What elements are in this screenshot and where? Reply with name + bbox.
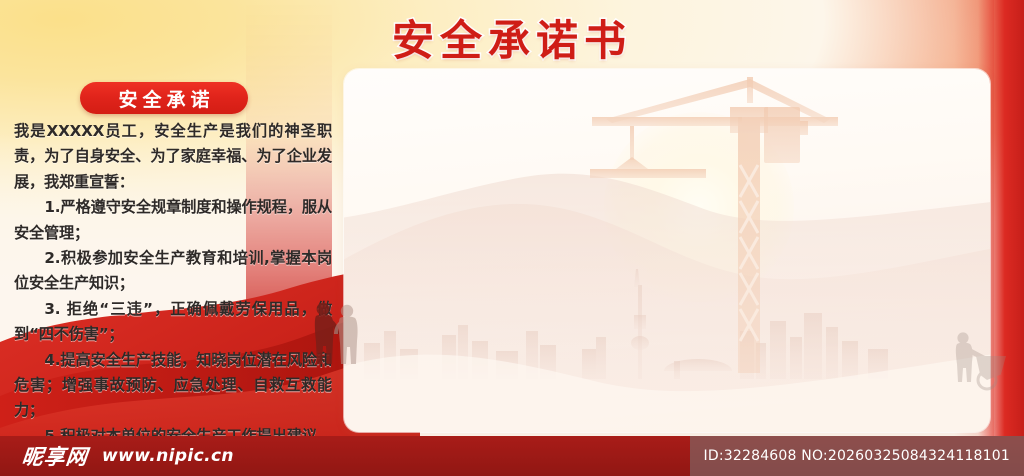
image-id-bar: ID:32284608 NO:20260325084324118101 bbox=[690, 436, 1024, 476]
pledge-item-1: 1.严格遵守安全规章制度和操作规程，服从安全管理； bbox=[14, 195, 332, 246]
status-badge: 安全承诺 bbox=[80, 82, 248, 114]
content-panel bbox=[344, 69, 990, 432]
site-logo: 昵享网 bbox=[20, 441, 89, 471]
poster-canvas: 安全承诺书 安全承诺 我是XXXXX员工，安全生产是我们的神圣职责，为了自身安全… bbox=[0, 0, 1024, 476]
badge-label: 安全承诺 bbox=[113, 85, 214, 112]
page-title: 安全承诺书 bbox=[0, 7, 1024, 68]
pledge-item-2: 2.积极参加安全生产教育和培训,掌握本岗位安全生产知识； bbox=[14, 246, 332, 297]
pledge-intro: 我是XXXXX员工，安全生产是我们的神圣职责，为了自身安全、为了家庭幸福、为了企… bbox=[14, 119, 332, 195]
panel-artwork bbox=[344, 69, 990, 432]
pledge-item-4: 4.提高安全生产技能，知晓岗位潜在风险和危害；增强事故预防、应急处理、自救互救能… bbox=[14, 348, 332, 424]
pledge-text-block: 我是XXXXX员工，安全生产是我们的神圣职责，为了自身安全、为了家庭幸福、为了企… bbox=[14, 119, 332, 475]
worker-wheelbarrow-silhouette-icon bbox=[946, 330, 1010, 392]
site-url: www.nipic.cn bbox=[102, 446, 234, 466]
pledge-item-3: 3. 拒绝“三违”，正确佩戴劳保用品，做到“四不伤害”； bbox=[14, 297, 332, 348]
image-id-text: ID:32284608 NO:20260325084324118101 bbox=[704, 448, 1010, 464]
two-workers-silhouette-icon bbox=[306, 300, 368, 366]
